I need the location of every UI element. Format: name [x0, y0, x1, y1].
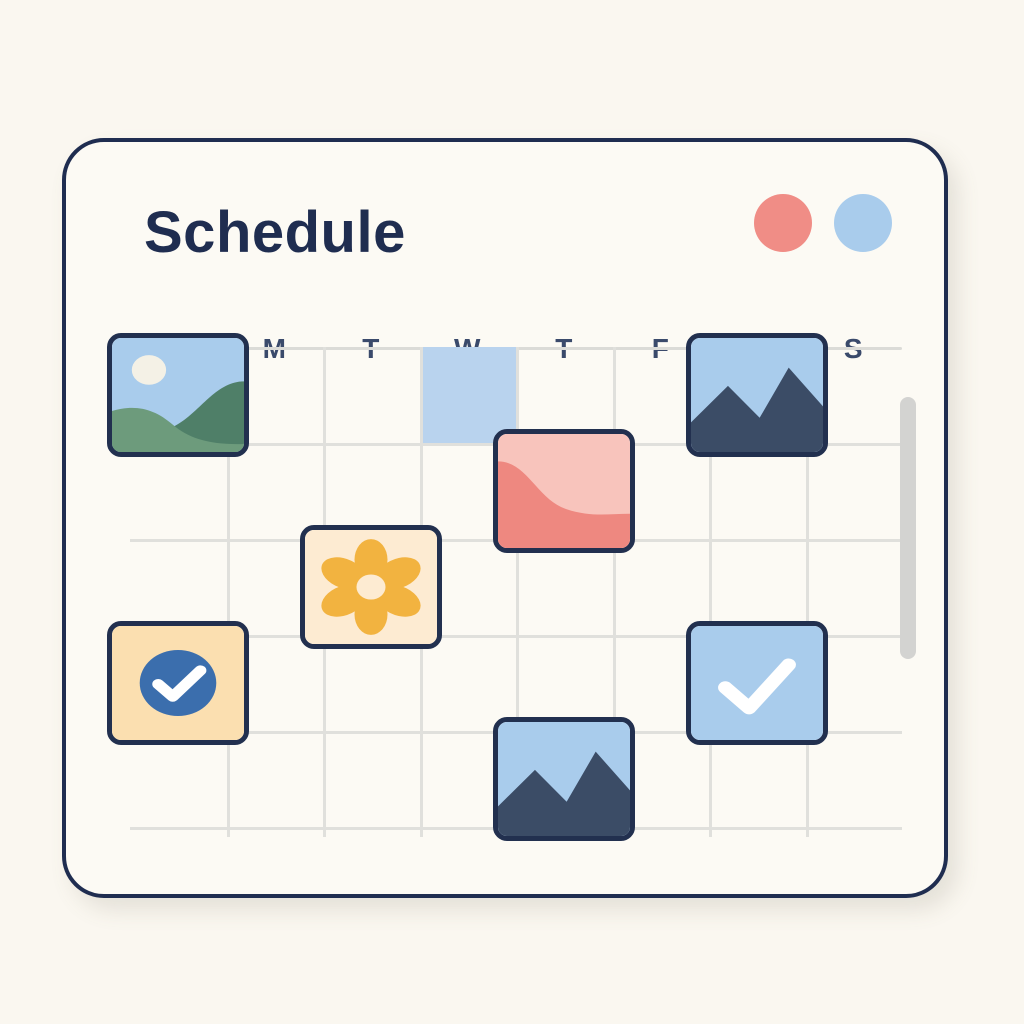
- image-landscape-icon: [112, 338, 244, 452]
- status-dot-group: [754, 194, 892, 252]
- calendar-grid: [130, 347, 902, 837]
- today-cell-highlight[interactable]: [420, 347, 517, 443]
- flower-icon: [305, 530, 437, 644]
- image-wave-icon: [498, 434, 630, 548]
- event-card-landscape-sun[interactable]: [107, 333, 249, 457]
- vertical-scrollbar[interactable]: [900, 397, 916, 677]
- event-card-check-circle[interactable]: [107, 621, 249, 745]
- event-card-mountain-bottom[interactable]: [493, 717, 635, 841]
- schedule-panel: Schedule S M T W T F S S: [62, 138, 948, 898]
- screenshot-root: Schedule S M T W T F S S: [0, 0, 1024, 1024]
- image-mountain-icon: [691, 338, 823, 452]
- event-card-check-large[interactable]: [686, 621, 828, 745]
- event-card-flower[interactable]: [300, 525, 442, 649]
- event-card-pink-wave[interactable]: [493, 429, 635, 553]
- check-icon: [691, 626, 823, 740]
- status-dot-red[interactable]: [754, 194, 812, 252]
- scrollbar-thumb[interactable]: [900, 397, 916, 659]
- status-dot-blue[interactable]: [834, 194, 892, 252]
- check-circle-icon: [112, 626, 244, 740]
- page-title: Schedule: [144, 204, 406, 262]
- image-mountain-icon: [498, 722, 630, 836]
- event-card-mountain-top-right[interactable]: [686, 333, 828, 457]
